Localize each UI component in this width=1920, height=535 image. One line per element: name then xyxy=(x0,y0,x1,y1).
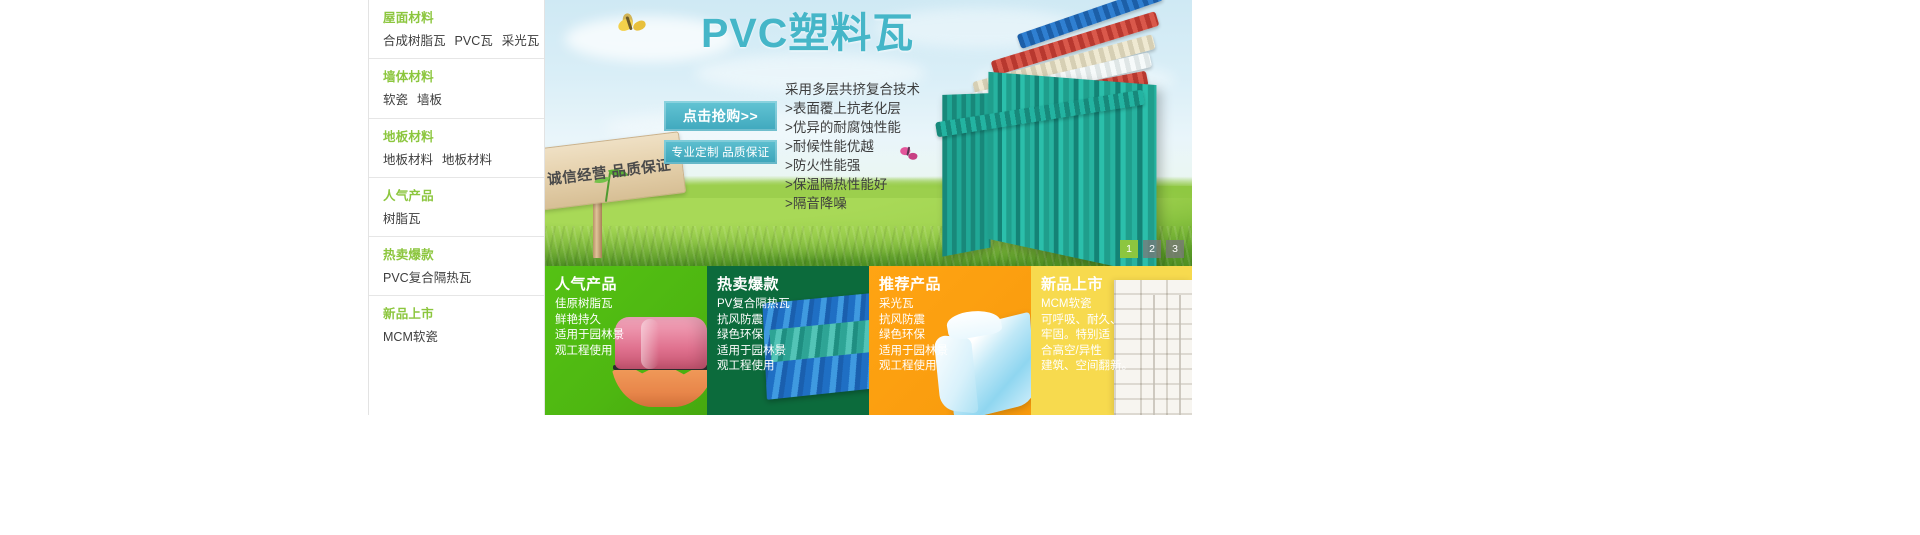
feature-item: >表面覆上抗老化层 xyxy=(785,99,965,118)
feature-item: >优异的耐腐蚀性能 xyxy=(785,118,965,137)
sidebar-category-new-arrival[interactable]: 新品上市 MCM软瓷 xyxy=(369,296,544,355)
sidebar-category-links: PVC复合隔热瓦 xyxy=(383,268,544,288)
card-feature-item: 鲜艳持久 xyxy=(555,313,707,329)
product-card-bestseller[interactable]: 热卖爆款 PV复合隔热瓦 抗风防震 绿色环保 适用于园林景 观工程使用 xyxy=(707,266,869,415)
card-feature-item: 合高空/异性 xyxy=(1041,344,1192,360)
product-card-popular[interactable]: 人气产品 佳原树脂瓦 鲜艳持久 适用于园林景 观工程使用 xyxy=(545,266,707,415)
sidebar-link[interactable]: MCM软瓷 xyxy=(383,330,438,344)
feature-item: >保温隔热性能好 xyxy=(785,175,965,194)
banner-pagination: 1 2 3 xyxy=(1120,240,1184,258)
product-card-recommended[interactable]: 推荐产品 采光瓦 抗风防震 绿色环保 适用于园林景 观工程使用 xyxy=(869,266,1031,415)
card-feature-item: 绿色环保 xyxy=(879,328,1031,344)
sidebar-category-flooring[interactable]: 地板材料 地板材料地板材料 xyxy=(369,119,544,178)
sidebar-category-title: 墙体材料 xyxy=(383,68,544,86)
feature-item: >隔音降噪 xyxy=(785,194,965,213)
buy-now-button[interactable]: 点击抢购>> xyxy=(664,101,777,131)
sidebar-category-links: MCM软瓷 xyxy=(383,327,544,347)
feature-item: >耐候性能优越 xyxy=(785,137,965,156)
card-feature-item: 适用于园林景 xyxy=(717,344,869,360)
card-feature-item: MCM软瓷 xyxy=(1041,297,1192,313)
card-feature-item: 观工程使用 xyxy=(555,344,707,360)
sidebar-category-title: 屋面材料 xyxy=(383,9,544,27)
hero-banner[interactable]: PVC塑料瓦 诚信经营 品质保证 点击抢购>> 专业定制 品质保证 采用多层 xyxy=(545,0,1192,266)
card-title: 热卖爆款 xyxy=(717,273,869,294)
sidebar-link[interactable]: 墙板 xyxy=(417,93,442,107)
card-feature-item: 观工程使用 xyxy=(717,359,869,375)
sidebar-category-title: 热卖爆款 xyxy=(383,246,544,264)
feature-list-heading: 采用多层共挤复合技术 xyxy=(785,80,965,99)
sidebar-category-title: 地板材料 xyxy=(383,128,544,146)
sidebar-link[interactable]: 软瓷 xyxy=(383,93,408,107)
card-feature-item: 抗风防震 xyxy=(879,313,1031,329)
banner-headline: PVC塑料瓦 xyxy=(701,8,914,58)
sidebar-link[interactable]: 地板材料 xyxy=(383,153,433,167)
card-feature-item: 可呼吸、耐久、 xyxy=(1041,313,1192,329)
card-feature-item: 绿色环保 xyxy=(717,328,869,344)
sidebar-link[interactable]: PVC复合隔热瓦 xyxy=(383,271,471,285)
feature-item: >防火性能强 xyxy=(785,156,965,175)
card-feature-item: PV复合隔热瓦 xyxy=(717,297,869,313)
sidebar-category-title: 人气产品 xyxy=(383,187,544,205)
sidebar-category-bestseller[interactable]: 热卖爆款 PVC复合隔热瓦 xyxy=(369,237,544,296)
page-root: 屋面材料 合成树脂瓦PVC瓦采光瓦 墙体材料 软瓷墙板 地板材料 地板材料地板材… xyxy=(0,0,1920,535)
sidebar-category-roofing[interactable]: 屋面材料 合成树脂瓦PVC瓦采光瓦 xyxy=(369,0,544,59)
pagination-dot-2[interactable]: 2 xyxy=(1143,240,1161,258)
sidebar-link[interactable]: 采光瓦 xyxy=(502,34,540,48)
sidebar-category-links: 地板材料地板材料 xyxy=(383,150,544,170)
card-feature-item: 适用于园林景 xyxy=(879,344,1031,360)
product-card-new-arrival[interactable]: 新品上市 MCM软瓷 可呼吸、耐久、 牢固。特别适 合高空/异性 建筑、空间翻新… xyxy=(1031,266,1192,415)
feature-list: 采用多层共挤复合技术 >表面覆上抗老化层 >优异的耐腐蚀性能 >耐候性能优越 >… xyxy=(785,80,965,213)
card-feature-item: 观工程使用 xyxy=(879,359,1031,375)
card-title: 新品上市 xyxy=(1041,273,1192,294)
card-feature-list: PV复合隔热瓦 抗风防震 绿色环保 适用于园林景 观工程使用 xyxy=(717,297,869,375)
card-feature-item: 佳原树脂瓦 xyxy=(555,297,707,313)
card-feature-list: 采光瓦 抗风防震 绿色环保 适用于园林景 观工程使用 xyxy=(879,297,1031,375)
card-feature-item: 牢固。特别适 xyxy=(1041,328,1192,344)
pagination-dot-3[interactable]: 3 xyxy=(1166,240,1184,258)
product-card-row: 人气产品 佳原树脂瓦 鲜艳持久 适用于园林景 观工程使用 热卖爆款 PV复合隔热… xyxy=(545,266,1192,415)
category-sidebar: 屋面材料 合成树脂瓦PVC瓦采光瓦 墙体材料 软瓷墙板 地板材料 地板材料地板材… xyxy=(368,0,545,415)
card-feature-item: 采光瓦 xyxy=(879,297,1031,313)
card-feature-item: 适用于园林景 xyxy=(555,328,707,344)
sidebar-category-links: 软瓷墙板 xyxy=(383,90,544,110)
sidebar-category-wall[interactable]: 墙体材料 软瓷墙板 xyxy=(369,59,544,118)
card-feature-list: 佳原树脂瓦 鲜艳持久 适用于园林景 观工程使用 xyxy=(555,297,707,359)
custom-order-button[interactable]: 专业定制 品质保证 xyxy=(664,140,777,164)
card-feature-item: 建筑、空间翻新。 xyxy=(1041,359,1192,375)
sidebar-category-title: 新品上市 xyxy=(383,305,544,323)
sidebar-link[interactable]: 合成树脂瓦 xyxy=(383,34,446,48)
card-title: 人气产品 xyxy=(555,273,707,294)
sidebar-link[interactable]: PVC瓦 xyxy=(455,34,493,48)
pagination-dot-1[interactable]: 1 xyxy=(1120,240,1138,258)
sign-post xyxy=(593,196,602,258)
sidebar-category-links: 合成树脂瓦PVC瓦采光瓦 xyxy=(383,31,544,51)
card-title: 推荐产品 xyxy=(879,273,1031,294)
sidebar-link[interactable]: 地板材料 xyxy=(442,153,492,167)
sidebar-category-links: 树脂瓦 xyxy=(383,209,544,229)
sidebar-link[interactable]: 树脂瓦 xyxy=(383,212,421,226)
roof-tile-stack-image xyxy=(927,2,1192,260)
card-feature-list: MCM软瓷 可呼吸、耐久、 牢固。特别适 合高空/异性 建筑、空间翻新。 xyxy=(1041,297,1192,375)
sidebar-category-popular[interactable]: 人气产品 树脂瓦 xyxy=(369,178,544,237)
card-feature-item: 抗风防震 xyxy=(717,313,869,329)
